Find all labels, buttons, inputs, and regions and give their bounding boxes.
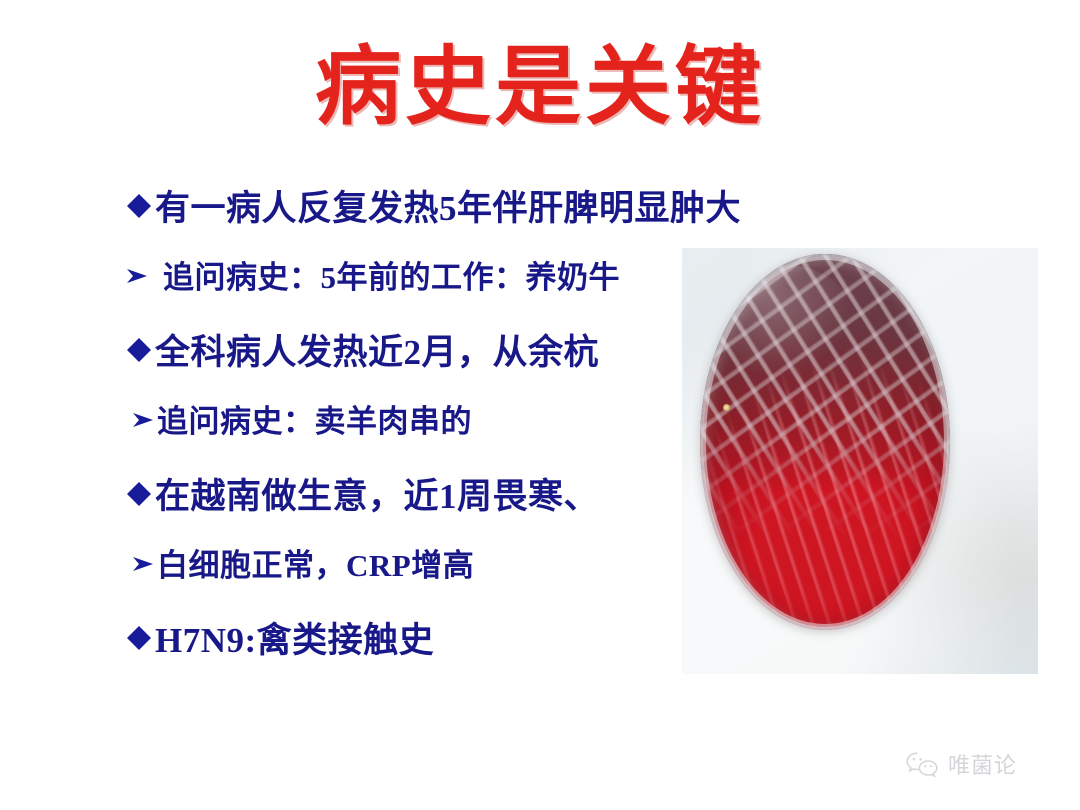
diamond-bullet-icon [124,335,154,365]
bullet-text: 追问病史：卖羊肉串的 [157,396,472,441]
wechat-icon [905,750,939,778]
arrow-bullet-icon [130,551,156,577]
page-title: 病史是关键 [0,44,1080,130]
petri-dish [700,254,950,630]
watermark: 唯菌论 [905,748,1017,780]
bullet-text: 白细胞正常，CRP增高 [157,540,474,585]
arrow-bullet-icon [124,263,150,289]
bullet-text: 在越南做生意，近1周畏寒、 [155,468,599,519]
bullet-text: 有一病人反复发热5年伴肝脾明显肿大 [155,180,741,231]
diamond-bullet-icon [124,479,154,509]
bullet-text: 全科病人发热近2月，从余杭 [155,324,599,375]
bullet-text: 追问病史：5年前的工作：养奶牛 [163,252,620,297]
blood-agar-plate-photo [682,248,1038,674]
dish-rim [700,254,950,630]
watermark-label: 唯菌论 [948,748,1017,780]
bullet-text: H7N9:禽类接触史 [155,612,434,663]
slide-canvas: 病史是关键 有一病人反复发热5年伴肝脾明显肿大 追问病史：5年前的工作：养奶牛 … [0,0,1080,810]
diamond-bullet-icon [124,191,154,221]
diamond-bullet-icon [124,623,154,653]
bullet-item: 有一病人反复发热5年伴肝脾明显肿大 [124,180,924,252]
arrow-bullet-icon [130,407,156,433]
